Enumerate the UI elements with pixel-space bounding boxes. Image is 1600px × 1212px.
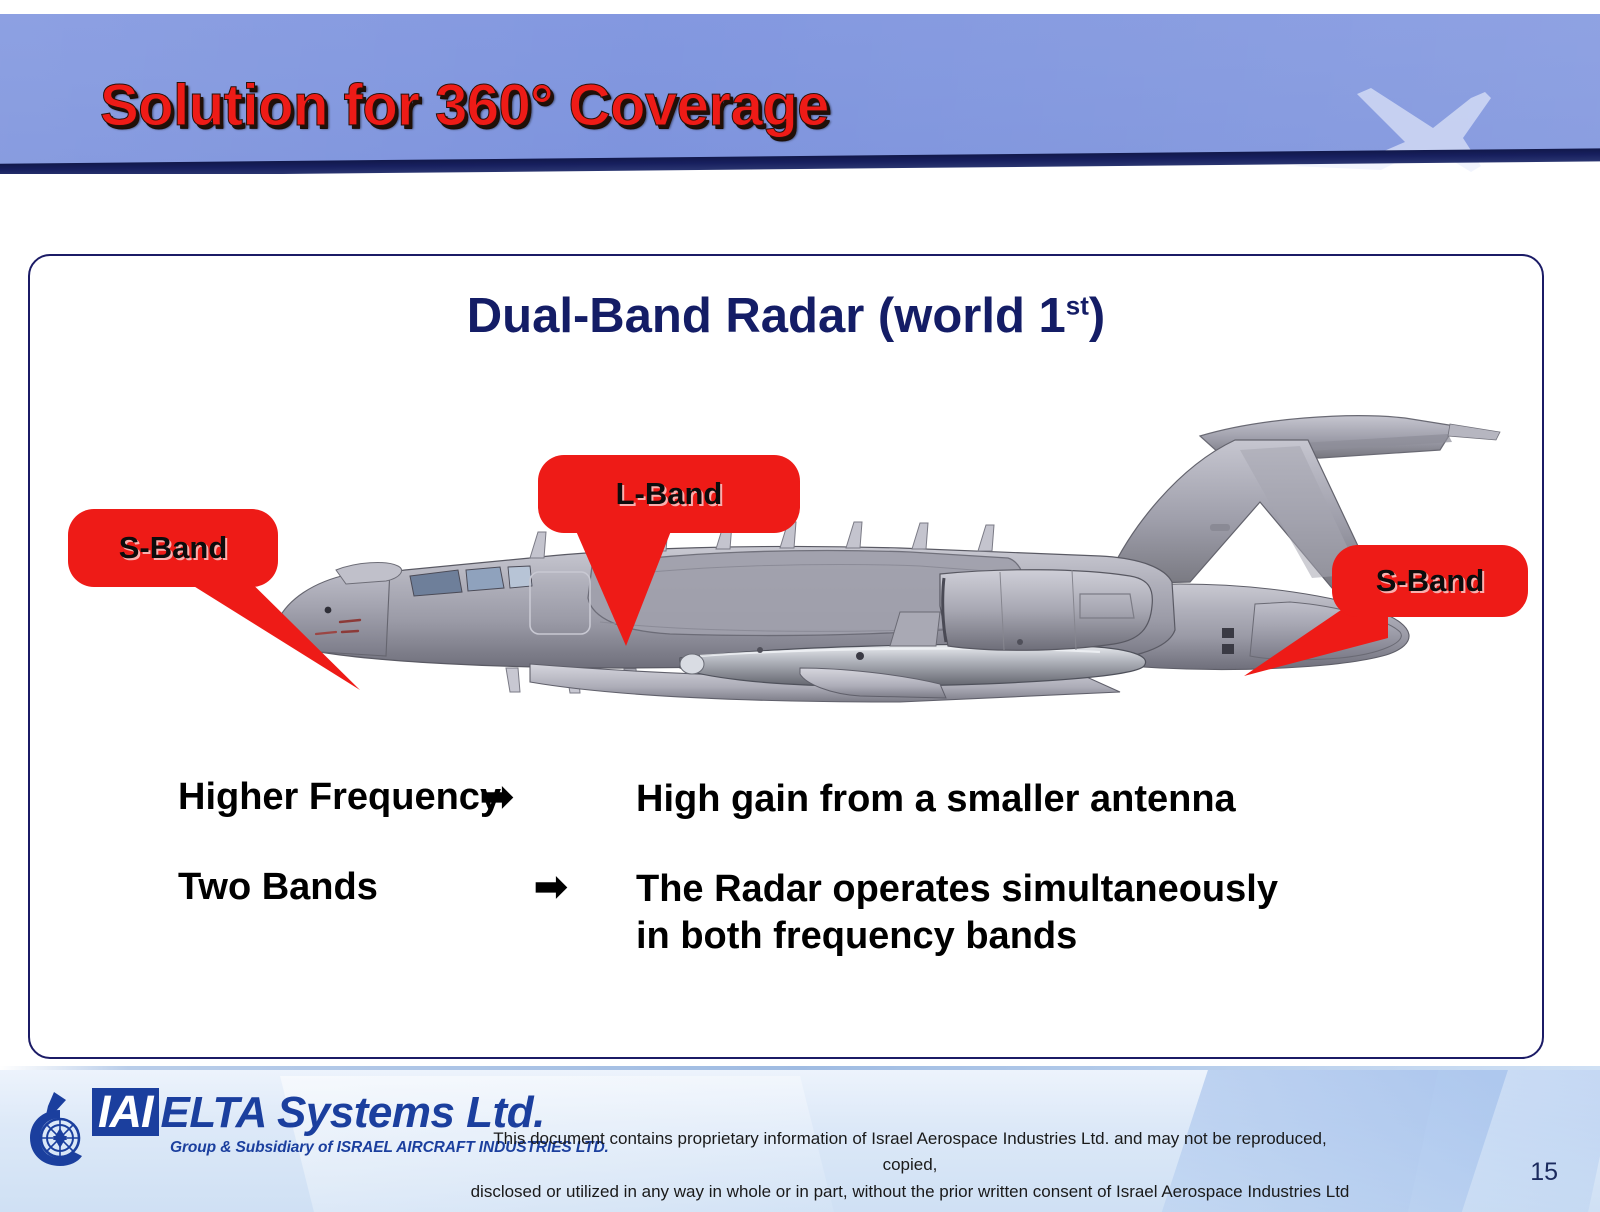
bullet-description: High gain from a smaller antenna [636,776,1508,824]
callout-l-band[interactable]: L-Band [538,455,800,533]
disclaimer-line-2: disclosed or utilized in any way in whol… [470,1179,1350,1205]
content-heading-main: Dual-Band Radar (world 1 [467,289,1066,343]
callout-s-band-tail-label: S-Band [1376,563,1485,599]
bullet-term: Higher Frequency [178,776,528,820]
iai-globe-star-emblem-icon [24,1090,96,1168]
footer-divider [0,1066,1600,1070]
bullet-description-line: The Radar operates simultaneously [636,866,1508,914]
iai-wordmark: IAI [92,1088,159,1136]
bullet-description-line: High gain from a smaller antenna [636,776,1508,824]
callout-s-band-nose[interactable]: S-Band [68,509,278,587]
bullet-description-line: in both frequency bands [636,913,1508,961]
footer: IAI ELTA Systems Ltd. Group & Subsidiary… [0,1066,1600,1212]
arrow-right-icon: ➡ [480,776,636,818]
content-heading-superscript: st [1066,291,1089,321]
content-panel: Dual-Band Radar (world 1st) [28,254,1544,1059]
disclaimer-line-1: This document contains proprietary infor… [470,1126,1350,1179]
page-number: 15 [1530,1158,1558,1187]
bullet-description: The Radar operates simultaneously in bot… [636,866,1508,961]
bullet-row: Two Bands ➡ The Radar operates simultane… [178,866,1508,961]
callout-s-band-nose-label: S-Band [119,530,228,566]
page-title: Solution for 360° Coverage [100,72,829,139]
proprietary-disclaimer: This document contains proprietary infor… [470,1126,1350,1205]
bullet-row: Higher Frequency ➡ High gain from a smal… [178,776,1508,824]
content-heading: Dual-Band Radar (world 1st) [30,288,1542,344]
content-heading-tail: ) [1089,289,1105,343]
callout-l-band-label: L-Band [616,476,723,512]
header-banner: Solution for 360° Coverage [0,14,1600,174]
callout-s-band-tail[interactable]: S-Band [1332,545,1528,617]
bullet-list: Higher Frequency ➡ High gain from a smal… [178,776,1508,1003]
bullet-term: Two Bands [178,866,528,910]
arrow-right-icon: ➡ [528,866,636,908]
